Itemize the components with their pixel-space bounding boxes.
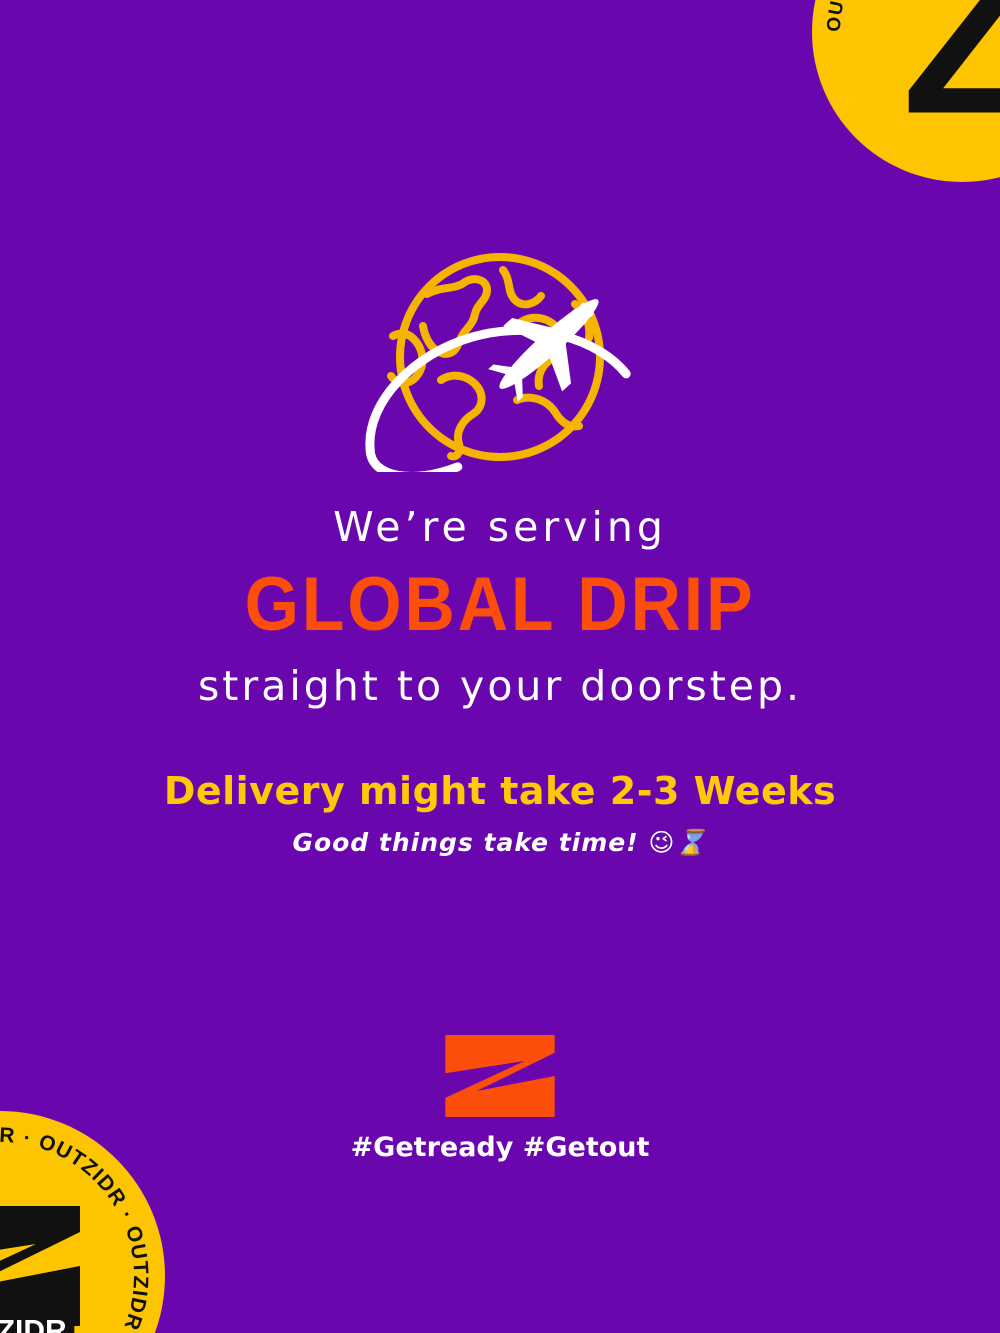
badge-bl-z-mark bbox=[0, 1206, 80, 1326]
headline-line-3: straight to your doorstep. bbox=[0, 664, 1000, 709]
globe-illustration bbox=[0, 252, 1000, 472]
footer-brand: #Getready #Getout bbox=[0, 1035, 1000, 1163]
headline-block: We’re serving GLOBAL DRIP straight to yo… bbox=[0, 505, 1000, 856]
poster-canvas: OUTZIDR · OUTZIDR · OUTZIDR · OUTZIDR · … bbox=[0, 0, 1000, 1333]
badge-tr-core: Z bbox=[812, 0, 1000, 182]
delivery-subnote: Good things take time! 😉⌛ bbox=[0, 829, 1000, 857]
delivery-notice: Delivery might take 2-3 Weeks bbox=[0, 771, 1000, 813]
footer-hashtags: #Getready #Getout bbox=[0, 1132, 1000, 1163]
badge-bl-wordmark: OUTZIDR bbox=[0, 1312, 75, 1333]
headline-line-1: We’re serving bbox=[0, 505, 1000, 550]
badge-tr-center-letter: Z bbox=[902, 0, 1000, 146]
badge-top-right: OUTZIDR · OUTZIDR · OUTZIDR · OUTZIDR · … bbox=[812, 0, 1000, 182]
headline-line-2: GLOBAL DRIP bbox=[40, 560, 960, 650]
brand-z-logo bbox=[445, 1035, 555, 1117]
